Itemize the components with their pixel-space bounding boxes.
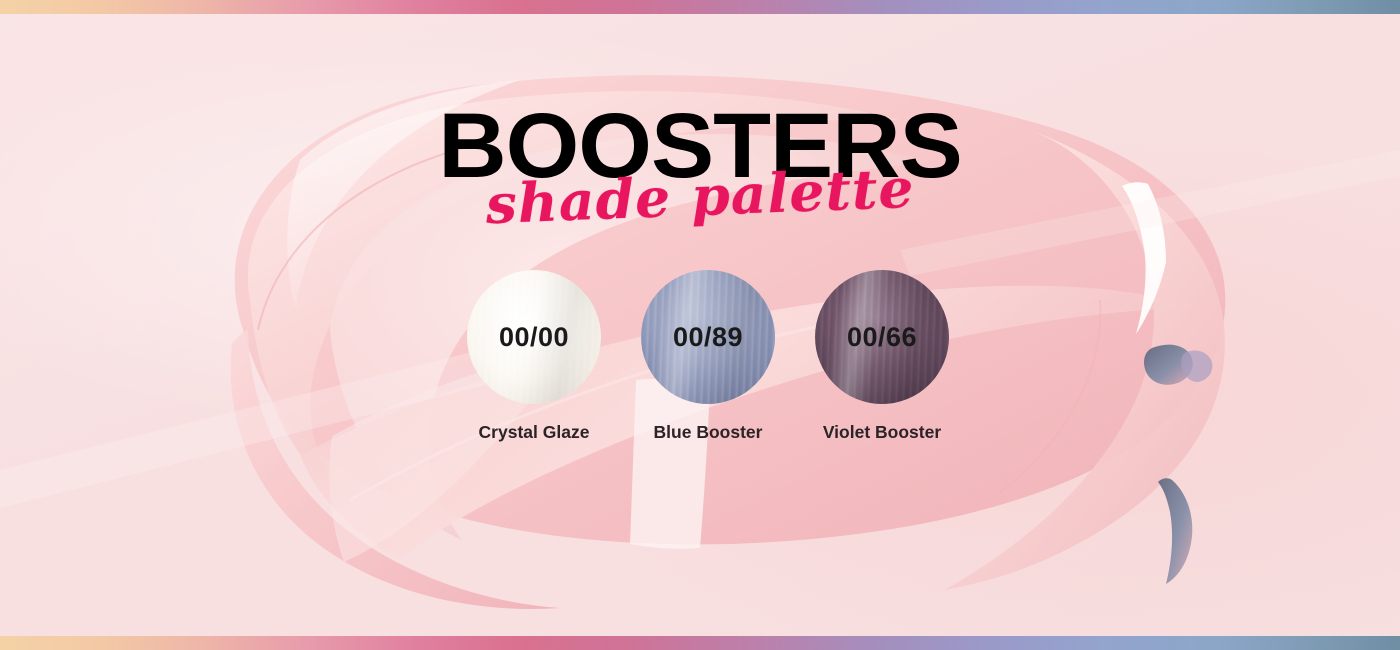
swatch-disc-violet-booster[interactable]: 00/66 [815,270,949,404]
title-block: BOOSTERS shade palette [0,104,1400,189]
booster-shade-palette-banner: BOOSTERS shade palette 00/00 Crystal Gla… [0,0,1400,650]
swatch-disc-blue-booster[interactable]: 00/89 [641,270,775,404]
swatch-code: 00/00 [499,322,569,353]
banner-content: BOOSTERS shade palette 00/00 Crystal Gla… [0,0,1400,650]
swatch-label: Crystal Glaze [479,422,590,443]
swatch-item-crystal-glaze[interactable]: 00/00 Crystal Glaze [466,270,602,443]
top-gradient-strip [0,0,1400,14]
swatch-label: Violet Booster [823,422,941,443]
swatch-disc-crystal-glaze[interactable]: 00/00 [467,270,601,404]
swatch-item-violet-booster[interactable]: 00/66 Violet Booster [814,270,950,443]
bottom-gradient-strip [0,636,1400,650]
swatch-code: 00/66 [847,322,917,353]
swatch-code: 00/89 [673,322,743,353]
shade-swatch-row: 00/00 Crystal Glaze 00/89 Blue Booster 0… [0,270,1400,443]
swatch-item-blue-booster[interactable]: 00/89 Blue Booster [640,270,776,443]
swatch-label: Blue Booster [654,422,763,443]
